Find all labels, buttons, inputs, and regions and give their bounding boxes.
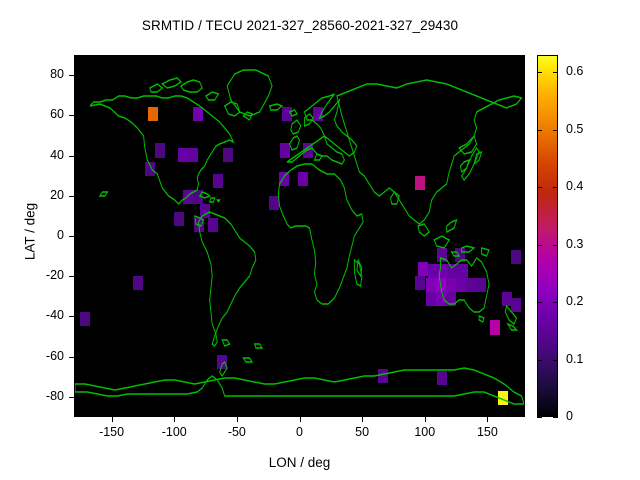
y-tick	[69, 397, 74, 398]
x-tick-label: 150	[457, 425, 517, 439]
colorbar-tick-label: 0.3	[566, 237, 583, 251]
colorbar-tick-label: 0	[566, 409, 573, 423]
colorbar-tick	[553, 72, 558, 73]
x-tick-label: 100	[395, 425, 455, 439]
x-tick-label: 50	[332, 425, 392, 439]
x-axis-title: LON / deg	[74, 455, 525, 470]
x-tick	[362, 417, 363, 422]
y-tick	[69, 236, 74, 237]
coastline-overlay	[75, 56, 524, 416]
colorbar-tick	[537, 417, 542, 418]
y-tick	[69, 75, 74, 76]
colorbar	[537, 55, 558, 417]
y-tick	[69, 316, 74, 317]
x-tick	[425, 417, 426, 422]
colorbar-tick-label: 0.6	[566, 64, 583, 78]
colorbar-tick-label: 0.1	[566, 352, 583, 366]
y-tick-label: -20	[12, 268, 64, 282]
colorbar-tick	[553, 130, 558, 131]
colorbar-tick	[537, 302, 542, 303]
colorbar-tick-label: 0.4	[566, 179, 583, 193]
y-tick	[69, 276, 74, 277]
map-plot-area	[74, 55, 525, 417]
x-tick	[487, 417, 488, 422]
x-tick-label: -100	[144, 425, 204, 439]
y-tick-label: 40	[12, 148, 64, 162]
y-tick-label: 60	[12, 107, 64, 121]
chart-container: SRMTID / TECU 2021-327_28560-2021-327_29…	[0, 0, 640, 480]
colorbar-tick-label: 0.2	[566, 294, 583, 308]
chart-title: SRMTID / TECU 2021-327_28560-2021-327_29…	[0, 18, 600, 33]
y-tick	[69, 196, 74, 197]
colorbar-tick	[537, 130, 542, 131]
y-tick-label: -60	[12, 349, 64, 363]
y-tick	[69, 156, 74, 157]
colorbar-tick-label: 0.5	[566, 122, 583, 136]
y-tick-label: 20	[12, 188, 64, 202]
colorbar-tick	[537, 72, 542, 73]
x-tick-label: -50	[207, 425, 267, 439]
colorbar-tick	[537, 360, 542, 361]
x-tick-label: -150	[82, 425, 142, 439]
x-tick	[112, 417, 113, 422]
colorbar-tick	[553, 417, 558, 418]
colorbar-tick	[553, 302, 558, 303]
colorbar-tick	[537, 187, 542, 188]
x-tick	[237, 417, 238, 422]
colorbar-tick	[553, 245, 558, 246]
y-tick-label: 80	[12, 67, 64, 81]
y-tick-label: -80	[12, 389, 64, 403]
x-tick-label: 0	[270, 425, 330, 439]
y-tick-label: -40	[12, 308, 64, 322]
y-tick	[69, 115, 74, 116]
colorbar-tick	[537, 245, 542, 246]
colorbar-tick	[553, 187, 558, 188]
colorbar-tick	[553, 360, 558, 361]
x-tick	[174, 417, 175, 422]
x-tick	[300, 417, 301, 422]
y-tick	[69, 357, 74, 358]
y-tick-label: 0	[12, 228, 64, 242]
